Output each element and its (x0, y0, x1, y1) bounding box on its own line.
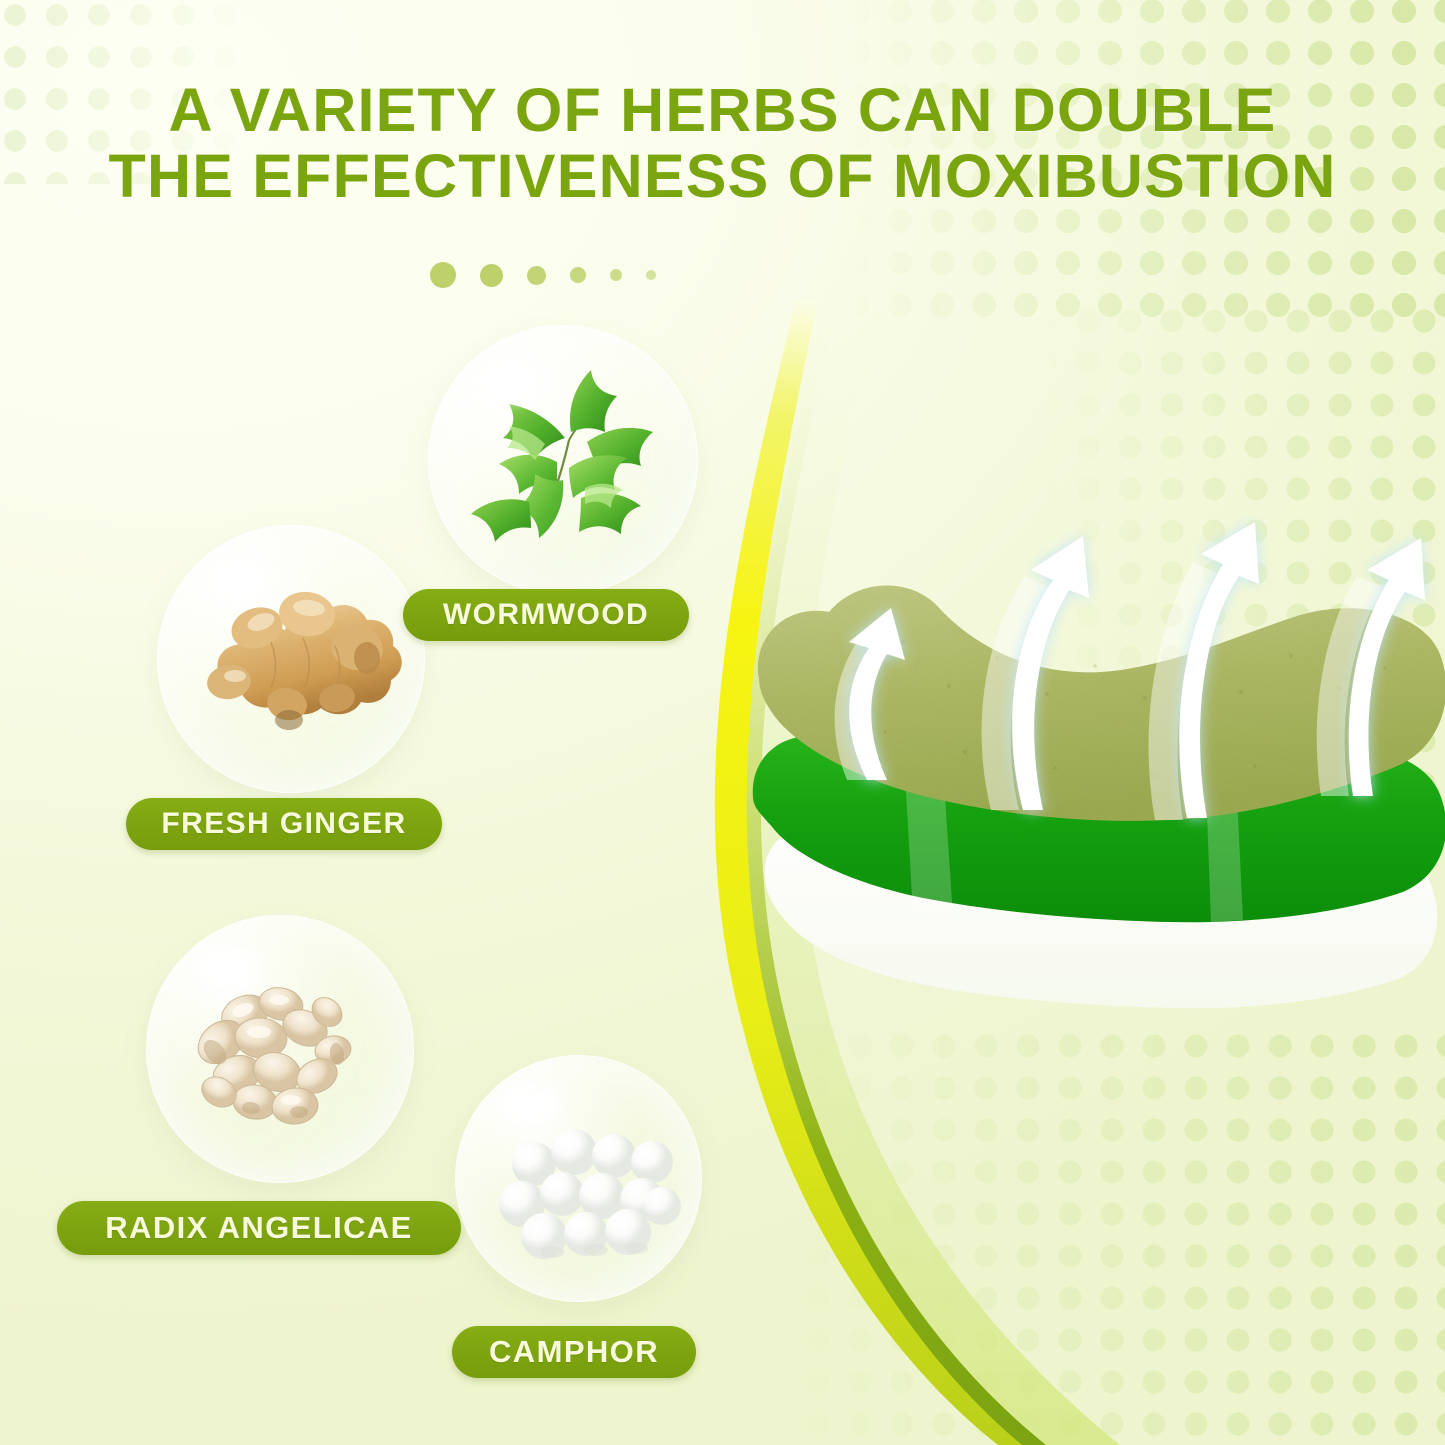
headline-line-2: THE EFFECTIVENESS OF MOXIBUSTION (0, 144, 1445, 210)
ingredient-bubble-radix-angelicae (146, 915, 414, 1183)
infographic-canvas: A VARIETY OF HERBS CAN DOUBLE THE EFFECT… (0, 0, 1445, 1445)
ginger-root-icon (158, 526, 424, 792)
label-text-fresh-ginger: FRESH GINGER (161, 807, 406, 841)
label-pill-radix-angelicae: RADIX ANGELICAE (57, 1201, 461, 1255)
ingredient-bubble-fresh-ginger (157, 525, 425, 793)
label-text-camphor: CAMPHOR (489, 1334, 659, 1370)
decorative-dot-row (430, 255, 760, 295)
camphor-balls-icon (456, 1056, 701, 1301)
ingredient-bubble-camphor (455, 1055, 702, 1302)
label-pill-fresh-ginger: FRESH GINGER (126, 798, 442, 850)
label-text-radix-angelicae: RADIX ANGELICAE (105, 1210, 412, 1246)
headline-line-1: A VARIETY OF HERBS CAN DOUBLE (0, 78, 1445, 144)
label-pill-camphor: CAMPHOR (452, 1326, 696, 1378)
page-title: A VARIETY OF HERBS CAN DOUBLE THE EFFECT… (0, 78, 1445, 210)
label-text-wormwood: WORMWOOD (443, 598, 649, 632)
label-pill-wormwood: WORMWOOD (403, 589, 689, 641)
wormwood-leaves-icon (429, 326, 697, 594)
ingredient-bubble-wormwood (428, 325, 698, 595)
moxibustion-patch-layers (735, 480, 1445, 1120)
angelica-root-slices-icon (147, 916, 413, 1182)
